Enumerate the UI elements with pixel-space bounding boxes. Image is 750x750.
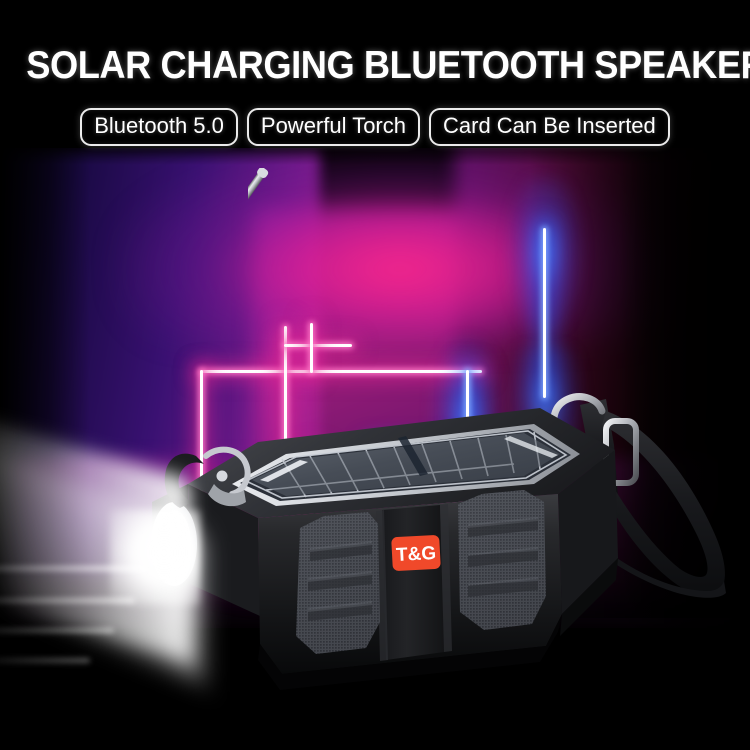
feature-badge-bluetooth[interactable]: Bluetooth 5.0 xyxy=(80,108,238,146)
feature-badge-list: Bluetooth 5.0 Powerful Torch Card Can Be… xyxy=(0,108,750,146)
left-speaker-grille xyxy=(296,512,380,654)
right-speaker-grille xyxy=(458,490,546,630)
product-banner: T&G SOLAR CHARGING xyxy=(0,0,750,750)
feature-badge-card-slot[interactable]: Card Can Be Inserted xyxy=(429,108,670,146)
feature-badge-torch[interactable]: Powerful Torch xyxy=(247,108,420,146)
telescopic-antenna-icon xyxy=(248,168,444,420)
speaker-body: T&G xyxy=(110,398,650,698)
brand-logo: T&G xyxy=(391,535,441,571)
page-title: SOLAR CHARGING BLUETOOTH SPEAKER xyxy=(26,46,724,85)
brand-logo-text: T&G xyxy=(396,543,437,566)
